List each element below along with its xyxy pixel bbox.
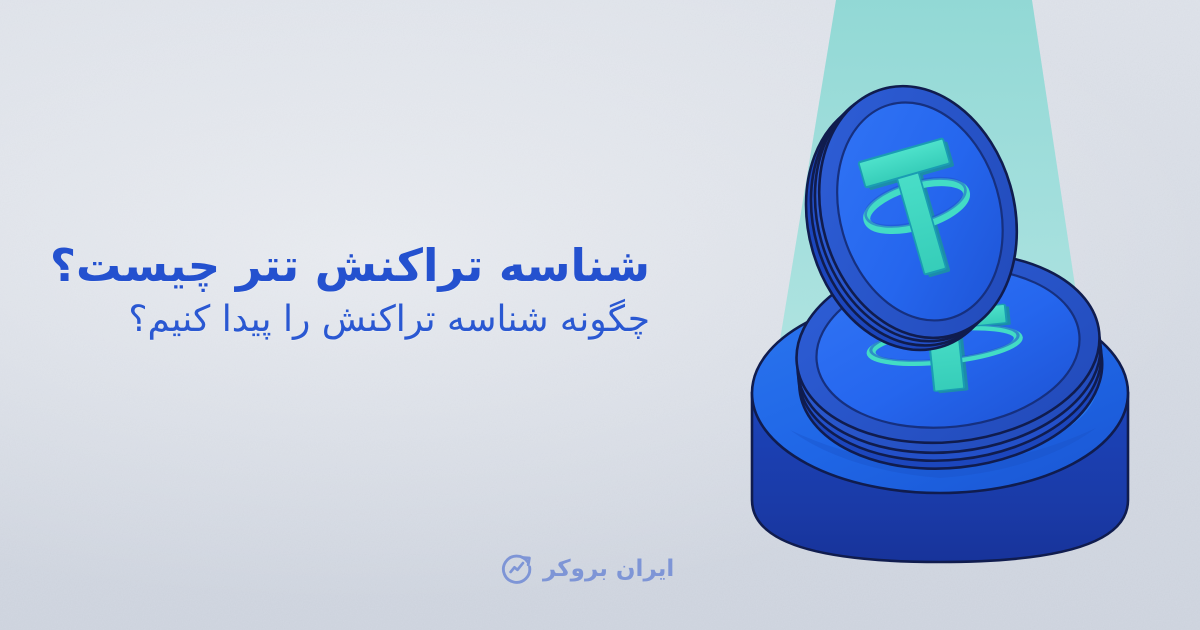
page-title: شناسه تراکنش تتر چیست؟: [50, 243, 650, 288]
circular-arrow-chart-icon: [500, 552, 534, 586]
brand-logo[interactable]: ایران بروکر: [500, 552, 674, 586]
headline-block: شناسه تراکنش تتر چیست؟ چگونه شناسه تراکن…: [50, 243, 650, 338]
brand-name: ایران بروکر: [543, 558, 674, 581]
page-subtitle: چگونه شناسه تراکنش را پیدا کنیم؟: [50, 302, 650, 338]
poster-canvas: شناسه تراکنش تتر چیست؟ چگونه شناسه تراکن…: [0, 0, 1200, 630]
